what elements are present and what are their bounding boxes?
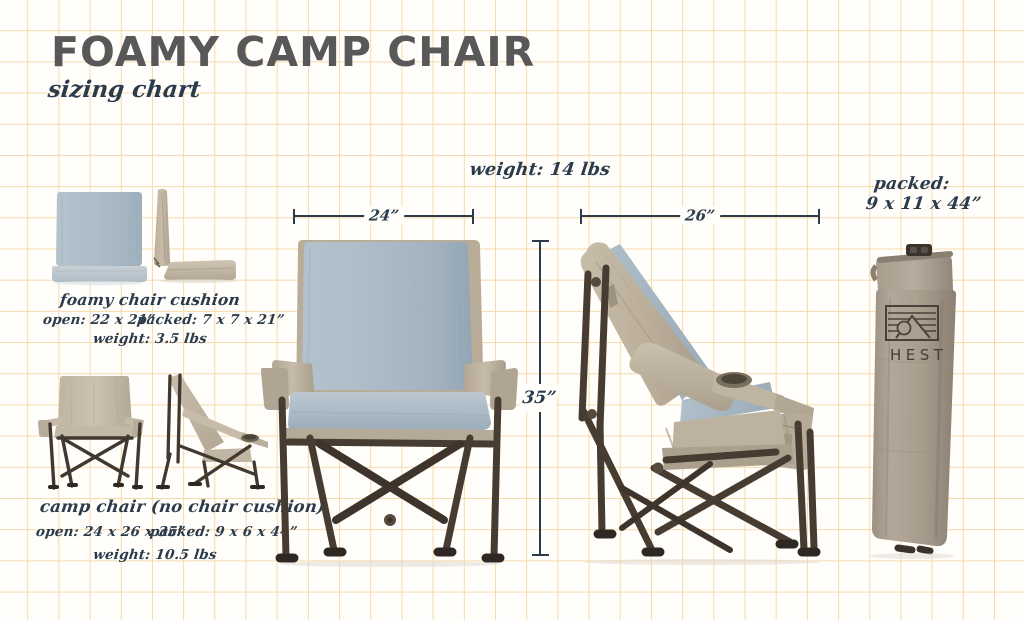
sizing-chart-page: FOAMY CAMP CHAIR sizing chart: [0, 0, 1024, 620]
packed-bag-label-line2: 9 x 11 x 44”: [865, 194, 983, 214]
cushion-side-view: [148, 186, 243, 286]
camp-chair-side-view: [146, 366, 274, 494]
packed-carry-bag: HEST: [864, 238, 994, 568]
height-dimension-line: 35”: [527, 240, 553, 556]
height-dimension-label: 35”: [519, 384, 560, 412]
foamy-camp-chair-side-view: [562, 232, 840, 570]
page-title: FOAMY CAMP CHAIR: [51, 28, 535, 76]
width-dimension-line: 24”: [293, 207, 474, 225]
cushion-callout-weight: weight: 3.5 lbs: [59, 331, 241, 347]
page-subtitle: sizing chart: [47, 76, 203, 103]
width-dimension-label: 24”: [363, 206, 405, 224]
camp-chair-front-view: [36, 368, 154, 493]
depth-dimension-line: 26”: [580, 207, 820, 225]
depth-dimension-label: 26”: [679, 206, 721, 224]
packed-bag-label-line1: packed:: [873, 174, 951, 194]
assembled-weight-label: weight: 14 lbs: [419, 160, 661, 180]
foamy-camp-chair-front-view: [262, 232, 518, 568]
cushion-callout-name: foamy chair cushion: [59, 290, 241, 309]
cushion-front-view: [52, 188, 152, 286]
hest-brand-text: HEST: [890, 346, 947, 364]
chair-callout-weight: weight: 10.5 lbs: [54, 547, 256, 563]
